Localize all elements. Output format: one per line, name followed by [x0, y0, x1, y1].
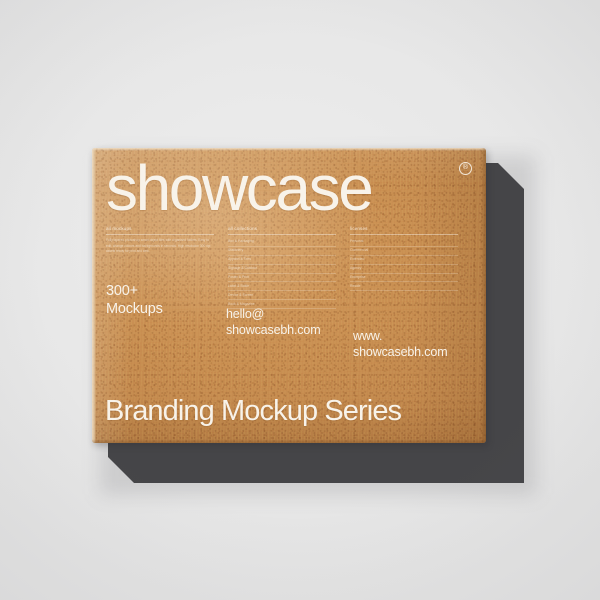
mockup-count: 300+ Mockups [106, 283, 163, 318]
product-photo-scene: showcase ® all mockups Fully layered pho… [0, 0, 600, 600]
spec-column-licenses: licenses Personal Commercial Extended Ag… [350, 226, 472, 309]
spec-column-heading: all collections [228, 226, 336, 235]
mockup-count-label: Mockups [106, 301, 163, 319]
list-item: Device & Screen [228, 291, 336, 300]
spec-column-paragraph: Fully layered photoshop smart object fil… [106, 238, 214, 255]
printed-artwork: showcase ® all mockups Fully layered pho… [92, 148, 486, 443]
mockup-count-number: 300+ [106, 283, 163, 301]
list-item: Enterprise [350, 274, 458, 283]
spec-column-list: Box & Packaging Stationery Apparel & Tee… [228, 238, 336, 309]
spec-column-heading: all mockups [106, 226, 214, 235]
list-item: Poster & Print [228, 274, 336, 283]
list-item: Apparel & Tees [228, 256, 336, 265]
list-item: Personal [350, 238, 458, 247]
list-item: Resale [350, 282, 458, 291]
contact-website-line2: showcasebh.com [353, 345, 447, 361]
brand-wordmark: showcase [106, 156, 371, 220]
spec-column-heading: licenses [350, 226, 458, 235]
package-headline: Branding Mockup Series [105, 397, 401, 426]
list-item: Agency [350, 265, 458, 274]
registered-trademark-icon: ® [459, 162, 472, 175]
contact-website: www. showcasebh.com [353, 329, 447, 360]
list-item: Commercial [350, 247, 458, 256]
contact-email: hello@ showcasebh.com [226, 307, 320, 338]
contact-website-line1: www. [353, 329, 447, 345]
list-item: Stationery [228, 247, 336, 256]
list-item: Extended [350, 256, 458, 265]
cardboard-box: showcase ® all mockups Fully layered pho… [92, 148, 486, 443]
spec-column-list: Personal Commercial Extended Agency Ente… [350, 238, 458, 291]
spec-column-collections: all collections Box & Packaging Statione… [228, 226, 350, 309]
list-item: Box & Packaging [228, 238, 336, 247]
list-item: Label & Bottle [228, 282, 336, 291]
contact-email-line1: hello@ [226, 307, 320, 323]
list-item: Signage & Outdoor [228, 265, 336, 274]
contact-email-line2: showcasebh.com [226, 323, 320, 339]
